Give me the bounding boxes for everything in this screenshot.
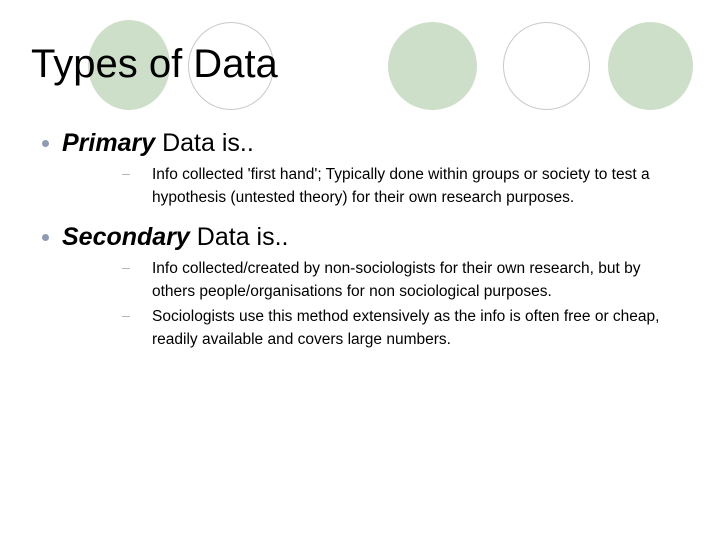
bullet-dot-icon <box>42 234 49 241</box>
bullet-level2-primary-1: Info collected 'first hand'; Typically d… <box>0 164 728 209</box>
bullet-group-secondary: Secondary Data is.. Info collected/creat… <box>0 220 728 351</box>
section-spacer <box>0 212 728 220</box>
bullet-rest-secondary: Data is.. <box>190 223 289 251</box>
bullet-level2-secondary-2: Sociologists use this method extensively… <box>0 306 728 351</box>
dash-bullet-icon <box>122 316 130 317</box>
bullet-group-primary: Primary Data is.. Info collected 'first … <box>0 126 728 209</box>
slide-body: Primary Data is.. Info collected 'first … <box>0 126 728 354</box>
decorative-circle-5 <box>608 22 693 110</box>
bullet-level2-text: Info collected 'first hand'; Typically d… <box>152 166 650 206</box>
bullet-rest-primary: Data is.. <box>155 129 254 157</box>
bullet-level2-secondary-1: Info collected/created by non-sociologis… <box>0 258 728 303</box>
decorative-circle-3 <box>388 22 477 110</box>
bullet-emphasis-primary: Primary <box>62 129 155 157</box>
bullet-dot-icon <box>42 140 49 147</box>
bullet-emphasis-secondary: Secondary <box>62 223 190 251</box>
dash-bullet-icon <box>122 268 130 269</box>
bullet-level1-primary: Primary Data is.. <box>0 126 728 160</box>
slide: Types of Data Primary Data is.. Info col… <box>0 0 728 546</box>
bullet-level1-secondary: Secondary Data is.. <box>0 220 728 254</box>
decorative-circle-4 <box>503 22 590 110</box>
bullet-level2-text: Info collected/created by non-sociologis… <box>152 260 641 300</box>
slide-title: Types of Data <box>31 40 278 88</box>
bullet-level2-text: Sociologists use this method extensively… <box>152 308 659 348</box>
dash-bullet-icon <box>122 174 130 175</box>
